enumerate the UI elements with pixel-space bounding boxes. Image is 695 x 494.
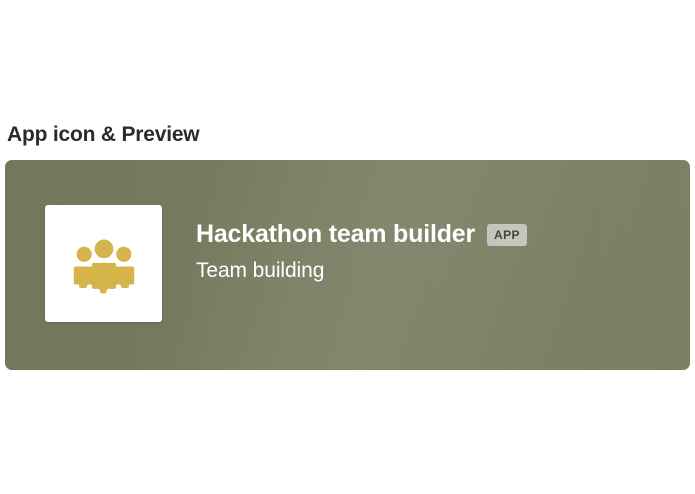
page-title: App icon & Preview <box>7 122 199 148</box>
app-preview-card: Hackathon team builder APP Team building <box>5 160 690 370</box>
people-group-icon <box>68 228 140 300</box>
app-subtitle: Team building <box>196 258 527 284</box>
status-badge: APP <box>487 224 527 246</box>
app-preview-text: Hackathon team builder APP Team building <box>196 218 527 284</box>
app-title-row: Hackathon team builder APP <box>196 218 527 250</box>
app-icon-tile <box>45 205 162 322</box>
app-title: Hackathon team builder <box>196 219 475 249</box>
